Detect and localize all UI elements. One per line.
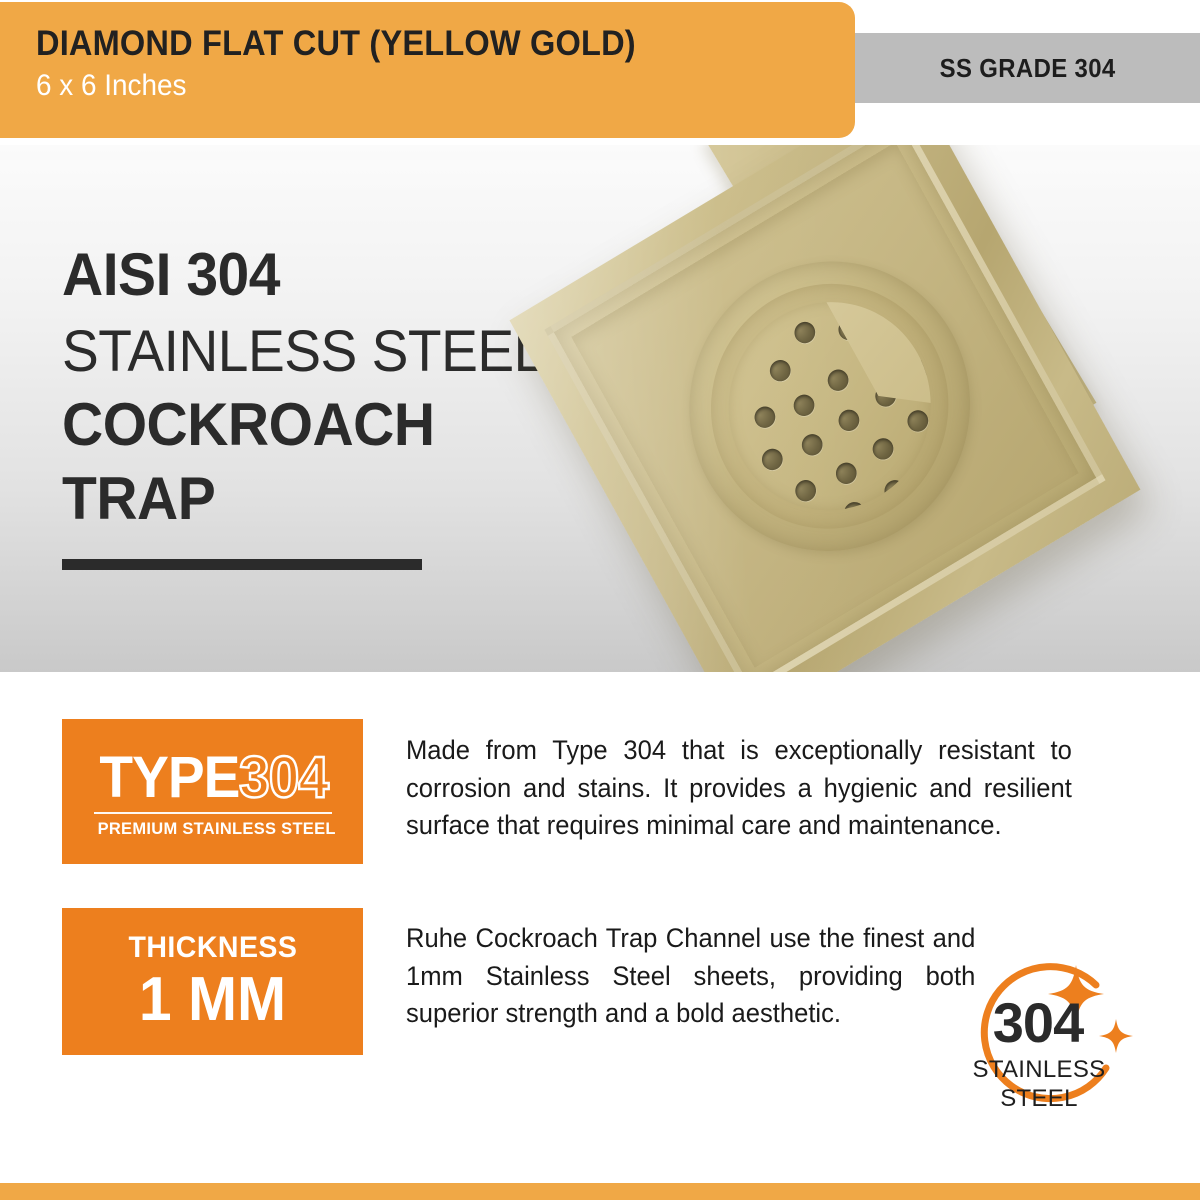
grate-hole [915, 447, 943, 476]
type-badge-word: TYPE [99, 749, 239, 807]
grate-hole [835, 406, 863, 435]
type-304-lockup: TYPE 304 [92, 749, 333, 807]
grate-hole [881, 476, 909, 505]
drain-grate [692, 264, 967, 549]
headline-underline [62, 559, 422, 570]
type-304-badge: TYPE 304 PREMIUM STAINLESS STEEL [62, 719, 363, 864]
feature-description-2: Ruhe Cockroach Trap Channel use the fine… [406, 920, 975, 1033]
grade-badge: SS GRADE 304 [855, 33, 1200, 103]
grate-hole [792, 476, 820, 505]
product-size: 6 x 6 Inches [36, 69, 798, 102]
grate-hole [824, 366, 852, 395]
grate-hole [766, 356, 794, 385]
seal-line-1: STAINLESS [968, 1058, 1110, 1082]
seal-number: 304 [968, 995, 1108, 1051]
grate-hole [790, 391, 818, 420]
grate-hole [751, 403, 779, 432]
feature-description-1: Made from Type 304 that is exceptionally… [406, 732, 1072, 845]
grate-hole [869, 434, 897, 463]
hero-section: AISI 304 STAINLESS STEEL COCKROACH TRAP [0, 145, 1200, 672]
type-badge-caption: PREMIUM STAINLESS STEEL [97, 819, 328, 839]
grate-hole [840, 498, 868, 527]
footer-accent-bar [0, 1183, 1200, 1200]
grate-hole [832, 459, 860, 488]
grade-badge-label: SS GRADE 304 [940, 53, 1116, 84]
page-header: SS GRADE 304 DIAMOND FLAT CUT (YELLOW GO… [0, 0, 1200, 145]
grate-hole [791, 318, 819, 347]
type-badge-caption-group: PREMIUM STAINLESS STEEL [94, 812, 332, 839]
product-title: DIAMOND FLAT CUT (YELLOW GOLD) [36, 24, 798, 63]
thickness-badge: THICKNESS 1 MM [62, 908, 363, 1055]
grate-hole [758, 445, 786, 474]
grate-hole [798, 430, 826, 459]
seal-line-2: STEEL [968, 1087, 1110, 1111]
grate-hole [904, 406, 932, 435]
type-badge-divider [94, 812, 332, 814]
title-bar: DIAMOND FLAT CUT (YELLOW GOLD) 6 x 6 Inc… [0, 2, 855, 138]
type-badge-number: 304 [239, 749, 328, 807]
product-drain-body [510, 145, 1141, 672]
thickness-badge-value: 1 MM [139, 969, 286, 1031]
thickness-badge-label: THICKNESS [128, 933, 297, 963]
stainless-steel-seal: 304 STAINLESS STEEL [968, 963, 1143, 1143]
product-photo [470, 145, 1200, 672]
